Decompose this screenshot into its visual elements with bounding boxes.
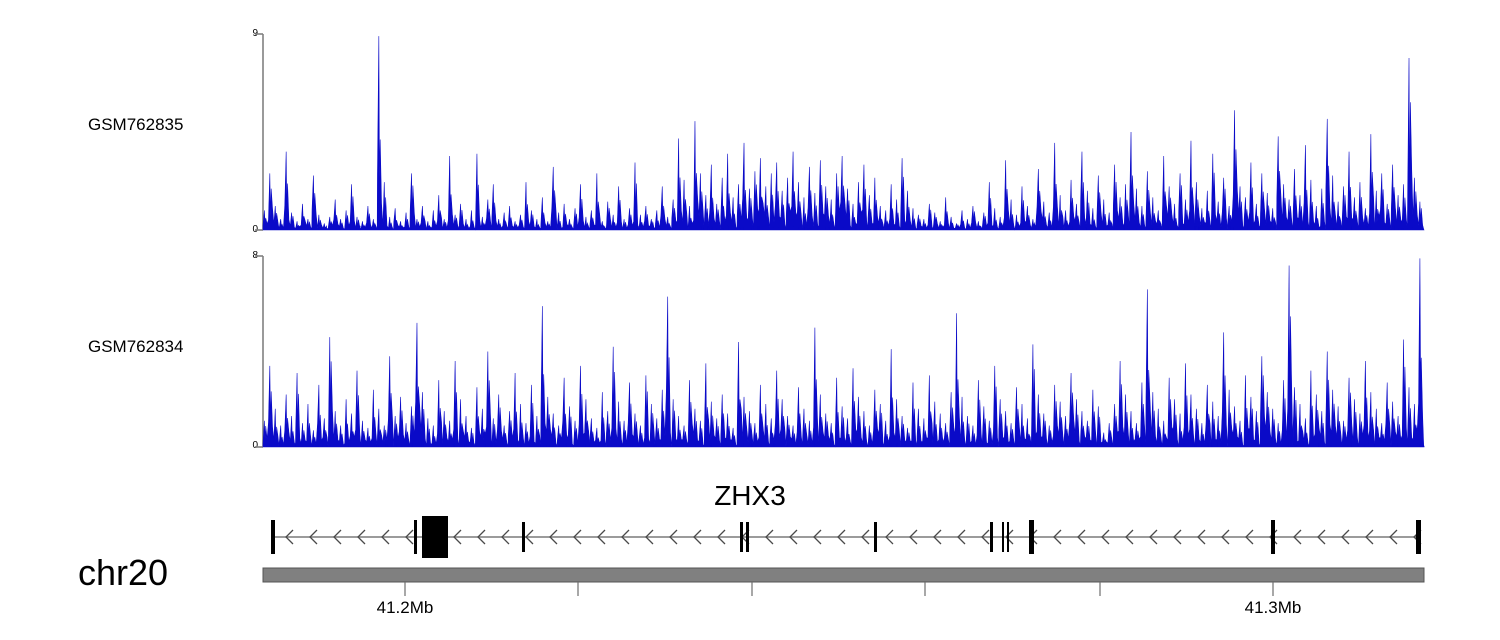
gene-exon[interactable] [414,520,417,554]
gene-exon[interactable] [1416,520,1421,554]
track2-coverage-signal[interactable] [263,258,1424,447]
gene-exon[interactable] [271,520,275,554]
track1-coverage-signal[interactable] [263,36,1424,230]
gene-exon[interactable] [746,522,749,552]
browser-vector-layer [0,0,1500,640]
gene-exon[interactable] [990,522,993,552]
gene-exon[interactable] [522,522,525,552]
coordinate-tick-label: 41.3Mb [1245,598,1302,618]
gene-exon[interactable] [740,522,743,552]
genome-browser: GSM762835 GSM762834 9 0 8 0 ZHX3 chr20 4… [0,0,1500,640]
gene-exon[interactable] [1271,520,1275,554]
gene-exon[interactable] [1002,522,1004,552]
coordinate-tick-label: 41.2Mb [377,598,434,618]
track1-axis [255,34,263,230]
ideogram-bar[interactable] [263,568,1424,582]
gene-exon[interactable] [1029,520,1034,554]
gene-model-track[interactable] [271,516,1421,558]
gene-exon[interactable] [422,516,448,558]
gene-exon[interactable] [874,522,877,552]
gene-exon[interactable] [1007,522,1009,552]
track2-axis [255,256,263,447]
coordinate-ticks [405,582,1273,596]
